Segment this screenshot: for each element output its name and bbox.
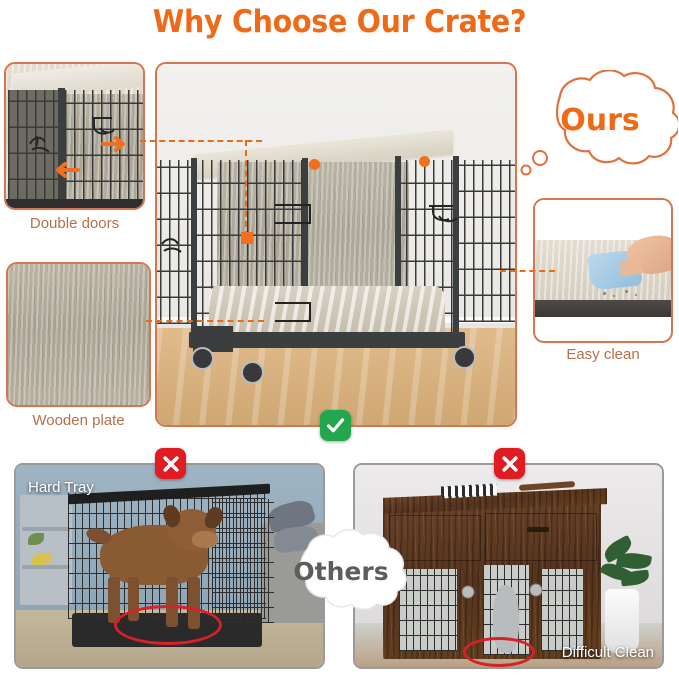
main-product-scene (157, 64, 515, 425)
crate-cushion (209, 286, 445, 336)
feature-panel-double-doors (4, 62, 145, 210)
connector-wooden-plate (146, 320, 264, 322)
check-icon (325, 415, 346, 436)
caption-easy-clean: Easy clean (533, 346, 673, 363)
bubble-ours-label: Ours (522, 62, 678, 178)
page-title: Why Choose Our Crate? (27, 4, 652, 40)
callout-dot-top-center (309, 159, 320, 170)
status-badge-good (320, 410, 351, 441)
problem-highlight-ellipse (463, 637, 535, 667)
caption-double-doors: Double doors (4, 215, 145, 232)
connector-double-doors-vertical (245, 140, 247, 237)
latch-icon-side (159, 232, 189, 258)
connector-double-doors (140, 140, 262, 142)
callout-dot-top-right (419, 156, 430, 167)
infographic-root: Why Choose Our Crate? (0, 0, 679, 675)
connector-easy-clean (500, 270, 555, 272)
rustic-crate-door-right (541, 569, 583, 651)
woven-basket-row (535, 317, 671, 341)
caster-wheel (453, 346, 476, 369)
overlay-label-difficult-clean: Difficult Clean (562, 644, 654, 661)
hinge-icon-right (529, 583, 543, 597)
arrow-icon-door-left (54, 162, 80, 178)
status-badge-bad-right (494, 448, 525, 479)
feature-panel-wooden-plate (6, 262, 151, 407)
main-product-panel (155, 62, 517, 427)
latch-icon-left (26, 130, 56, 156)
caster-wheel (191, 347, 214, 370)
bubble-others-label: Others (274, 524, 408, 618)
caption-wooden-plate: Wooden plate (6, 412, 151, 429)
caster-wheel (241, 361, 264, 384)
overlay-label-hard-tray: Hard Tray (28, 479, 94, 496)
status-badge-bad-left (155, 448, 186, 479)
crate-right-door-open (455, 160, 515, 322)
bubble-others: Others (274, 526, 408, 618)
cross-icon (500, 454, 520, 474)
problem-highlight-ellipse (114, 605, 222, 645)
callout-marker-door (241, 232, 253, 244)
bubble-ours: Ours (516, 70, 678, 178)
arrow-icon-door-front (101, 136, 127, 152)
hinge-icon-left (461, 585, 475, 599)
wood-texture-swatch (8, 264, 149, 405)
cross-icon (161, 454, 181, 474)
latch-icon-right (425, 200, 467, 230)
